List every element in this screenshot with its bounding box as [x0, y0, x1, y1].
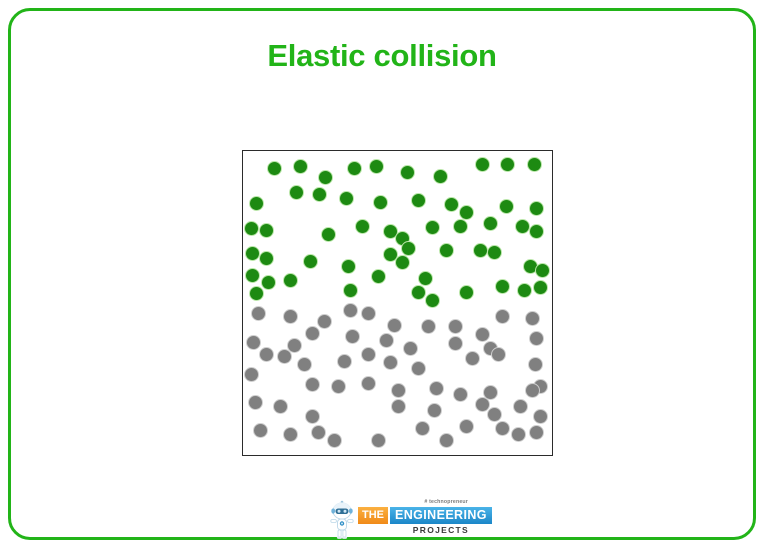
cold-particle	[361, 347, 376, 362]
hot-particle	[527, 157, 542, 172]
cold-particle	[448, 336, 463, 351]
slide-frame: Elastic collision # technopreneur	[8, 8, 756, 540]
cold-particle	[283, 309, 298, 324]
hot-particle	[355, 219, 370, 234]
hot-particle	[411, 193, 426, 208]
hot-particle	[341, 259, 356, 274]
hot-particle	[475, 157, 490, 172]
hot-particle	[303, 254, 318, 269]
cold-particle	[391, 383, 406, 398]
hot-particle	[312, 187, 327, 202]
cold-particle	[528, 357, 543, 372]
hot-particle	[395, 255, 410, 270]
particle-layer	[243, 151, 552, 455]
hot-particle	[425, 293, 440, 308]
cold-particle	[283, 427, 298, 442]
cold-particle	[525, 383, 540, 398]
cold-particle	[251, 306, 266, 321]
hot-particle	[517, 283, 532, 298]
cold-particle	[297, 357, 312, 372]
cold-particle	[525, 311, 540, 326]
hot-particle	[261, 275, 276, 290]
cold-particle	[331, 379, 346, 394]
cold-particle	[371, 433, 386, 448]
cold-particle	[453, 387, 468, 402]
cold-particle	[391, 399, 406, 414]
cold-particle	[277, 349, 292, 364]
hot-particle	[339, 191, 354, 206]
hot-particle	[444, 197, 459, 212]
cold-particle	[383, 355, 398, 370]
hot-particle	[425, 220, 440, 235]
hot-particle	[369, 159, 384, 174]
logo-the-badge: THE	[358, 507, 388, 524]
footer-logo: # technopreneur THE ENGINEERING PROJECTS	[324, 498, 470, 540]
cold-particle	[439, 433, 454, 448]
hot-particle	[321, 227, 336, 242]
cold-particle	[491, 347, 506, 362]
hot-particle	[433, 169, 448, 184]
hot-particle	[439, 243, 454, 258]
cold-particle	[259, 347, 274, 362]
cold-particle	[305, 326, 320, 341]
hot-particle	[533, 280, 548, 295]
cold-particle	[529, 331, 544, 346]
cold-particle	[465, 351, 480, 366]
hot-particle	[473, 243, 488, 258]
hot-particle	[459, 285, 474, 300]
hot-particle	[499, 199, 514, 214]
cold-particle	[361, 306, 376, 321]
hot-particle	[529, 201, 544, 216]
technopreneur-tagline: # technopreneur	[424, 499, 468, 505]
hot-particle	[289, 185, 304, 200]
cold-particle	[421, 319, 436, 334]
hot-particle	[418, 271, 433, 286]
hot-particle	[500, 157, 515, 172]
cold-particle	[317, 314, 332, 329]
cold-particle	[361, 376, 376, 391]
hot-particle	[318, 170, 333, 185]
cold-particle	[511, 427, 526, 442]
cold-particle	[427, 403, 442, 418]
hot-particle	[487, 245, 502, 260]
hot-particle	[343, 283, 358, 298]
hot-particle	[515, 219, 530, 234]
hot-particle	[283, 273, 298, 288]
hot-particle	[400, 165, 415, 180]
hot-particle	[249, 286, 264, 301]
simulation-box	[242, 150, 553, 456]
cold-particle	[327, 433, 342, 448]
cold-particle	[415, 421, 430, 436]
hot-particle	[373, 195, 388, 210]
hot-particle	[371, 269, 386, 284]
cold-particle	[305, 409, 320, 424]
logo-lockup: # technopreneur THE ENGINEERING PROJECTS	[358, 498, 470, 540]
hot-particle	[249, 196, 264, 211]
cold-particle	[513, 399, 528, 414]
cold-particle	[253, 423, 268, 438]
logo-projects-text: PROJECTS	[413, 525, 469, 535]
cold-particle	[533, 409, 548, 424]
cold-particle	[246, 335, 261, 350]
hot-particle	[259, 251, 274, 266]
hot-particle	[245, 246, 260, 261]
hot-particle	[267, 161, 282, 176]
hot-particle	[259, 223, 274, 238]
cold-particle	[273, 399, 288, 414]
robot-mascot-icon	[324, 498, 360, 540]
cold-particle	[343, 303, 358, 318]
cold-particle	[345, 329, 360, 344]
hot-particle	[483, 216, 498, 231]
hot-particle	[459, 205, 474, 220]
cold-particle	[244, 367, 259, 382]
cold-particle	[429, 381, 444, 396]
hot-particle	[245, 268, 260, 283]
hot-particle	[244, 221, 259, 236]
cold-particle	[311, 425, 326, 440]
cold-particle	[379, 333, 394, 348]
cold-particle	[448, 319, 463, 334]
logo-wordmark: THE ENGINEERING	[358, 507, 492, 524]
cold-particle	[387, 318, 402, 333]
cold-particle	[487, 407, 502, 422]
hot-particle	[535, 263, 550, 278]
cold-particle	[411, 361, 426, 376]
page-title: Elastic collision	[11, 39, 753, 73]
cold-particle	[305, 377, 320, 392]
cold-particle	[403, 341, 418, 356]
hot-particle	[453, 219, 468, 234]
cold-particle	[475, 327, 490, 342]
hot-particle	[401, 241, 416, 256]
hot-particle	[411, 285, 426, 300]
cold-particle	[337, 354, 352, 369]
cold-particle	[495, 421, 510, 436]
cold-particle	[248, 395, 263, 410]
logo-engineering-badge: ENGINEERING	[390, 507, 492, 524]
hot-particle	[293, 159, 308, 174]
cold-particle	[495, 309, 510, 324]
cold-particle	[529, 425, 544, 440]
cold-particle	[459, 419, 474, 434]
hot-particle	[529, 224, 544, 239]
hot-particle	[347, 161, 362, 176]
hot-particle	[495, 279, 510, 294]
